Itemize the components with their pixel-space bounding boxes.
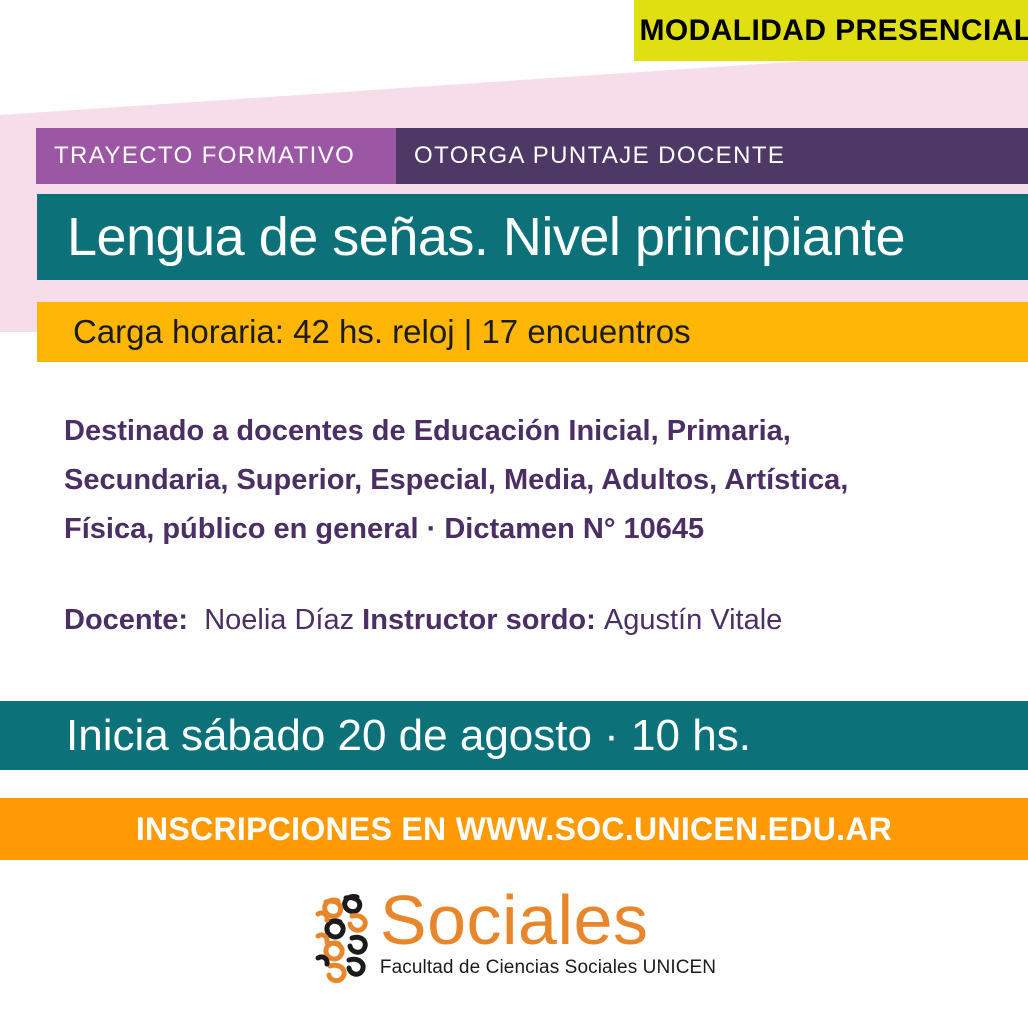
signup-url-text[interactable]: INSCRIPCIONES EN WWW.SOC.UNICEN.EDU.AR bbox=[136, 811, 892, 848]
footer-logo-inner: Sociales Facultad de Ciencias Sociales U… bbox=[312, 884, 716, 990]
teacher-label: Docente: bbox=[64, 604, 188, 636]
ribbon-otorga-puntaje-label: OTORGA PUNTAJE DOCENTE bbox=[414, 142, 785, 170]
sociales-emblem-icon bbox=[312, 890, 374, 990]
modality-badge: MODALIDAD PRESENCIAL bbox=[634, 0, 1028, 61]
ribbon-trayecto-formativo-label: TRAYECTO FORMATIVO bbox=[54, 142, 355, 170]
poster-canvas: MODALIDAD PRESENCIAL TRAYECTO FORMATIVO … bbox=[0, 0, 1028, 1028]
start-date-text: Inicia sábado 20 de agosto · 10 hs. bbox=[66, 711, 751, 761]
course-title-band: Lengua de señas. Nivel principiante bbox=[37, 194, 1028, 280]
ribbon-otorga-puntaje: OTORGA PUNTAJE DOCENTE bbox=[396, 128, 1028, 184]
course-title: Lengua de señas. Nivel principiante bbox=[67, 206, 905, 268]
footer-logo: Sociales Facultad de Ciencias Sociales U… bbox=[0, 884, 1028, 1004]
faculty-subtitle: Facultad de Ciencias Sociales UNICEN bbox=[380, 957, 716, 979]
start-date-band: Inicia sábado 20 de agosto · 10 hs. bbox=[0, 701, 1028, 770]
sociales-wordmark: Sociales bbox=[380, 884, 649, 956]
footer-logo-text: Sociales Facultad de Ciencias Sociales U… bbox=[380, 884, 716, 979]
ribbon-row: TRAYECTO FORMATIVO OTORGA PUNTAJE DOCENT… bbox=[36, 128, 1028, 184]
teacher-name: Noelia Díaz bbox=[204, 604, 354, 636]
audience-line-3: Física, público en general · Dictamen N°… bbox=[64, 505, 984, 554]
interpreter-label: Instructor sordo: bbox=[362, 604, 596, 636]
interpreter-name: Agustín Vitale bbox=[604, 604, 782, 636]
modality-badge-label: MODALIDAD PRESENCIAL bbox=[640, 14, 1028, 48]
staff-line: Docente: Noelia Díaz Instructor sordo: A… bbox=[64, 600, 984, 640]
signup-band[interactable]: INSCRIPCIONES EN WWW.SOC.UNICEN.EDU.AR bbox=[0, 798, 1028, 860]
audience-line-2: Secundaria, Superior, Especial, Media, A… bbox=[64, 456, 984, 505]
ribbon-trayecto-formativo: TRAYECTO FORMATIVO bbox=[36, 128, 396, 184]
audience-paragraph: Destinado a docentes de Educación Inicia… bbox=[64, 407, 984, 554]
course-hours-band: Carga horaria: 42 hs. reloj | 17 encuent… bbox=[37, 302, 1028, 362]
audience-line-1: Destinado a docentes de Educación Inicia… bbox=[64, 407, 984, 456]
course-hours-text: Carga horaria: 42 hs. reloj | 17 encuent… bbox=[73, 313, 691, 351]
